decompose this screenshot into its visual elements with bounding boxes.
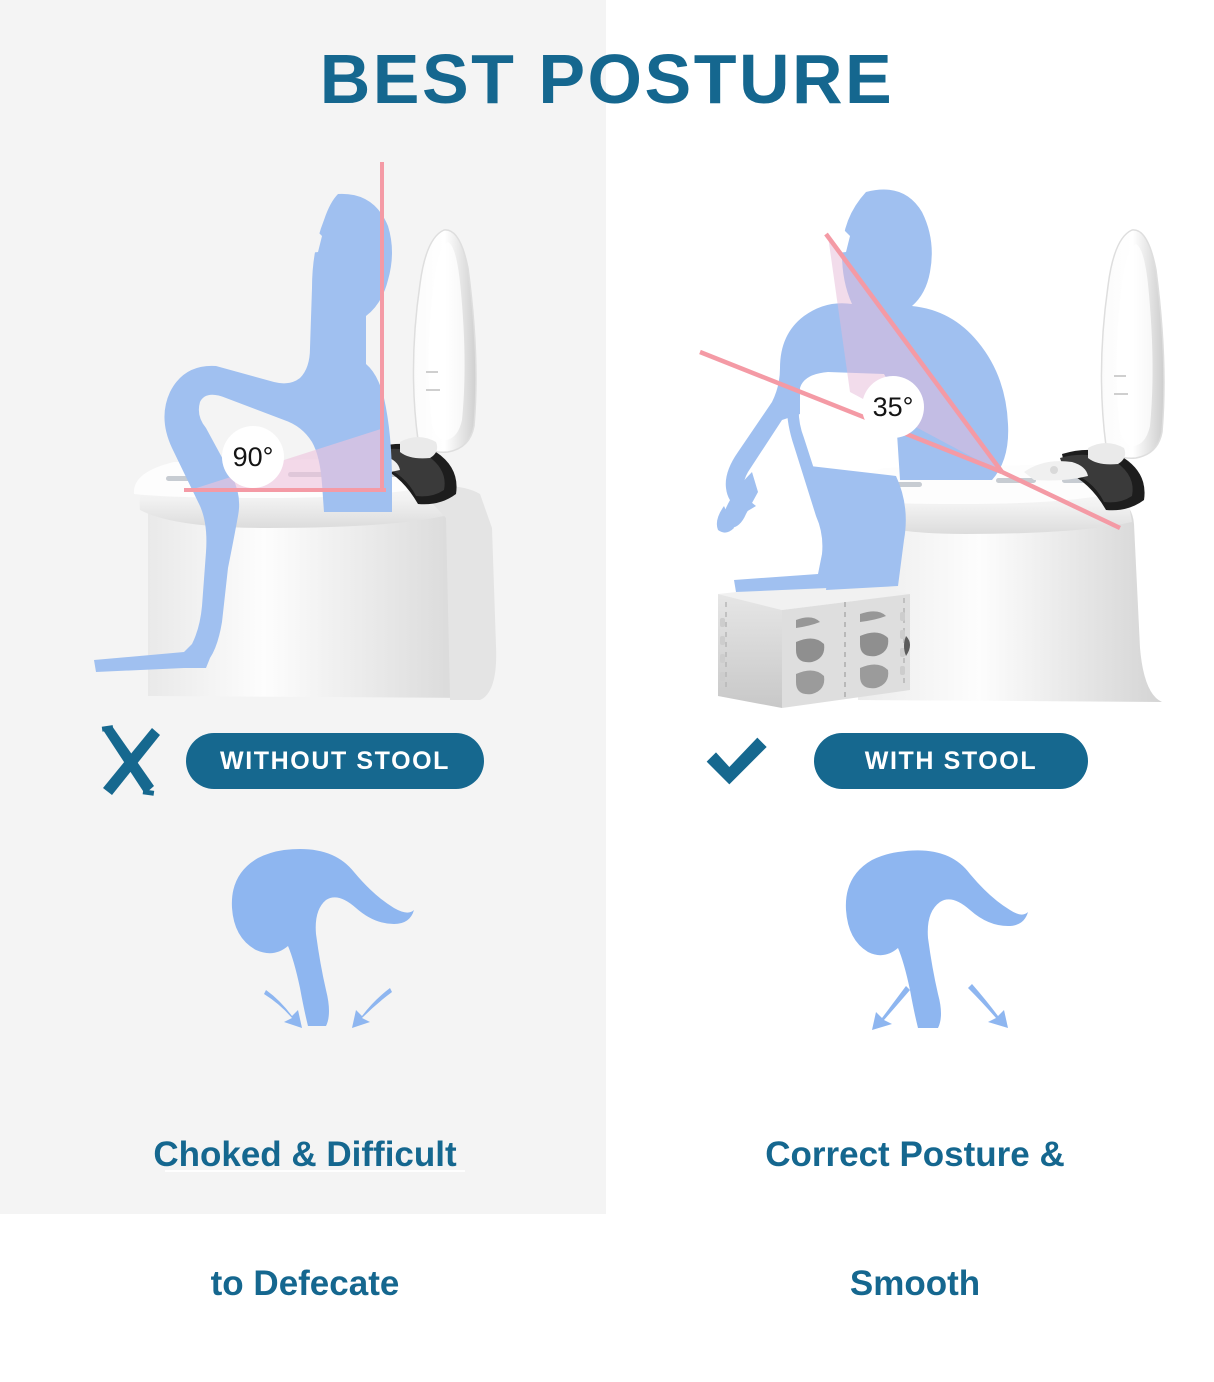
x-mark-icon <box>96 724 160 798</box>
bowel-open-icon <box>840 842 1055 1037</box>
badge-without-stool[interactable]: WITHOUT STOOL <box>186 733 484 789</box>
illustration-without-stool <box>88 176 558 726</box>
caption-with-stool: Correct Posture & Smooth <box>650 1058 1180 1382</box>
badge-row-with-stool: WITH STOOL <box>704 724 1088 798</box>
caption-without-stool-line1: Choked & Difficult <box>40 1123 570 1188</box>
badge-row-without-stool: WITHOUT STOOL <box>96 724 484 798</box>
bowel-constricted-icon <box>222 842 437 1037</box>
caption-with-stool-line1: Correct Posture & <box>650 1123 1180 1188</box>
caption-with-stool-line2: Smooth <box>650 1252 1180 1317</box>
caption-without-stool-line2: to Defecate <box>40 1252 570 1317</box>
angle-label-35: 35° <box>862 376 924 438</box>
caption-without-stool: Choked & Difficult to Defecate <box>40 1058 570 1382</box>
illustration-with-stool <box>700 176 1170 726</box>
angle-label-90: 90° <box>222 426 284 488</box>
caption-underline <box>165 1170 465 1172</box>
check-mark-icon <box>704 724 768 798</box>
infographic-canvas: BEST POSTURE <box>0 0 1214 1214</box>
badge-with-stool[interactable]: WITH STOOL <box>814 733 1088 789</box>
step-stool <box>718 580 910 708</box>
page-title: BEST POSTURE <box>0 44 1214 114</box>
